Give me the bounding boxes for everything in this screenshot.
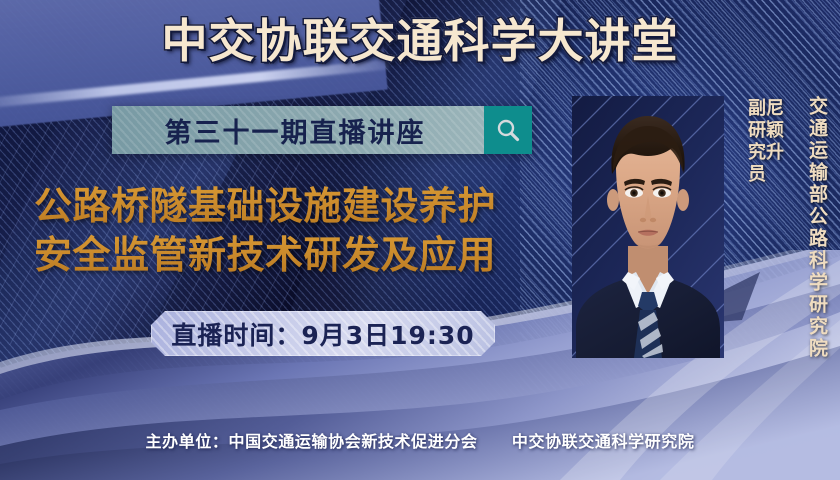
speaker-portrait-photo — [572, 96, 724, 358]
search-icon — [495, 117, 521, 143]
speaker-identity: 尼颖升 副研究员 — [746, 98, 782, 186]
headline-line-2: 安全监管新技术研发及应用 — [34, 231, 579, 280]
organizer-primary: 主办单位：中国交通运输协会新技术促进分会 — [146, 432, 478, 451]
episode-subtitle-bar: 第三十一期直播讲座 — [112, 106, 532, 154]
episode-label: 第三十一期直播讲座 — [112, 106, 484, 154]
organizer-secondary: 中交协联交通科学研究院 — [512, 432, 695, 451]
speaker-name: 尼颖升 — [763, 98, 784, 164]
page-title-text: 中交协联交通科学大讲堂 — [162, 14, 679, 68]
headline-line-1: 公路桥隧基础设施建设养护 — [34, 182, 579, 231]
search-icon-box[interactable] — [484, 106, 532, 154]
lecture-headline: 公路桥隧基础设施建设养护 安全监管新技术研发及应用 — [34, 182, 579, 279]
speaker-organization: 交通运输部公路科学研究院 — [807, 96, 826, 360]
live-lecture-poster: 中交协联交通科学大讲堂 第三十一期直播讲座 公路桥隧基础设施建设养护 安全监管新… — [0, 0, 840, 480]
page-title: 中交协联交通科学大讲堂 — [0, 18, 840, 64]
speaker-title: 副研究员 — [745, 98, 766, 186]
broadcast-time-badge: 直播时间：9月3日19:30 — [151, 311, 495, 356]
organizer-footer: 主办单位：中国交通运输协会新技术促进分会 中交协联交通科学研究院 — [0, 428, 840, 452]
broadcast-time-text: 直播时间：9月3日19:30 — [171, 316, 474, 352]
